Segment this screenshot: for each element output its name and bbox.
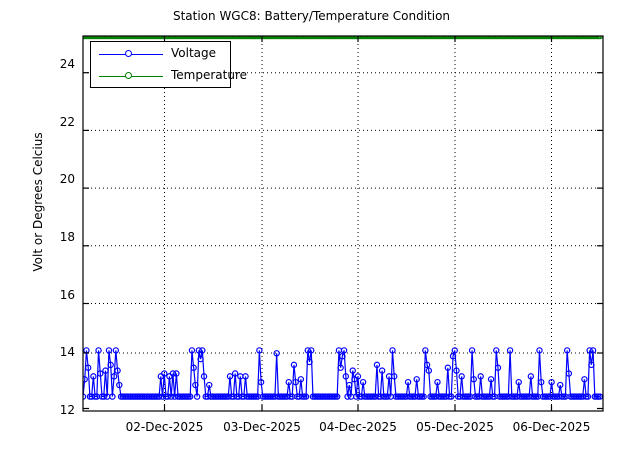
y-tick-label: 14 <box>35 345 75 359</box>
legend-entry-voltage[interactable]: Voltage <box>91 43 232 66</box>
chart-figure: Station WGC8: Battery/Temperature Condit… <box>0 0 623 466</box>
y-tick-label: 18 <box>35 230 75 244</box>
legend-label-voltage: Voltage <box>171 46 216 60</box>
y-axis-label: Volt or Degrees Celcius <box>31 102 45 302</box>
legend-label-temperature: Temperature <box>171 68 247 82</box>
y-tick-label: 12 <box>35 403 75 417</box>
y-tick-label: 22 <box>35 115 75 129</box>
legend-marker-voltage <box>125 50 132 57</box>
y-tick-label: 24 <box>35 57 75 71</box>
legend-marker-temperature <box>125 72 132 79</box>
x-tick-label: 05-Dec-2025 <box>405 420 505 434</box>
x-tick-label: 02-Dec-2025 <box>115 420 215 434</box>
x-tick-label: 06-Dec-2025 <box>502 420 602 434</box>
legend-entry-temperature[interactable]: Temperature <box>91 65 232 88</box>
chart-legend[interactable]: Voltage Temperature <box>90 41 231 88</box>
x-tick-label: 03-Dec-2025 <box>212 420 312 434</box>
y-tick-label: 20 <box>35 172 75 186</box>
y-tick-label: 16 <box>35 288 75 302</box>
x-tick-label: 04-Dec-2025 <box>308 420 408 434</box>
